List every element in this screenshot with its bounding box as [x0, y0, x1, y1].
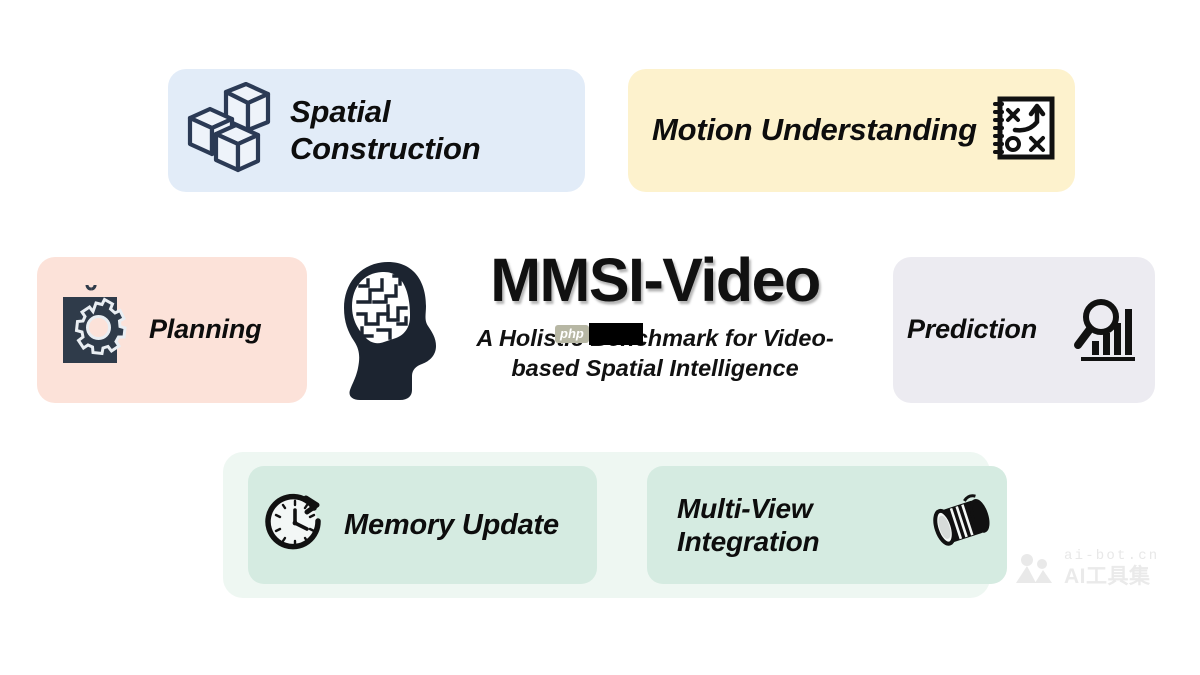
magnifier-bar-chart-icon [1067, 289, 1145, 372]
card-memory-update-label: Memory Update [344, 508, 559, 542]
card-planning-label: Planning [149, 314, 261, 346]
center-text: MMSI-Video A Holistic Benchmark for Vide… [442, 248, 868, 383]
cubes-icon [184, 82, 276, 179]
card-prediction-label: Prediction [907, 314, 1037, 346]
card-motion-understanding[interactable]: Motion Understanding [628, 69, 1075, 192]
card-spatial-construction-label: Spatial Construction [290, 94, 585, 167]
card-multi-view-integration[interactable]: Multi-View Integration [647, 466, 1007, 584]
site-watermark-name: AI工具集 [1064, 566, 1159, 587]
card-motion-understanding-label: Motion Understanding [652, 112, 977, 149]
card-planning[interactable]: Planning [37, 257, 307, 403]
ai-bot-logo-icon [1014, 551, 1056, 585]
clipboard-gear-icon [55, 285, 135, 376]
site-watermark-text: ai-bot.cn AI工具集 [1064, 549, 1159, 587]
clock-refresh-icon [262, 488, 332, 563]
card-multi-view-integration-label: Multi-View Integration [677, 492, 819, 558]
bottom-card-group: Memory Update Multi-View Integration [223, 452, 990, 598]
php-watermark: php [555, 323, 643, 345]
php-badge: php [555, 325, 589, 343]
card-memory-update[interactable]: Memory Update [248, 466, 597, 584]
brain-head-icon [338, 258, 442, 406]
page-title: MMSI-Video [490, 250, 820, 311]
card-spatial-construction[interactable]: Spatial Construction [168, 69, 585, 192]
site-watermark-url: ai-bot.cn [1064, 549, 1159, 563]
poster-canvas: Spatial Construction Motion Understandin… [0, 0, 1200, 675]
playbook-strategy-icon [987, 92, 1059, 169]
site-watermark: ai-bot.cn AI工具集 [1014, 549, 1159, 587]
page-subtitle: A Holistic Benchmark for Video-based Spa… [445, 323, 865, 383]
redaction-bar [589, 323, 643, 345]
camera-lens-icon [925, 491, 997, 560]
card-prediction[interactable]: Prediction [893, 257, 1155, 403]
